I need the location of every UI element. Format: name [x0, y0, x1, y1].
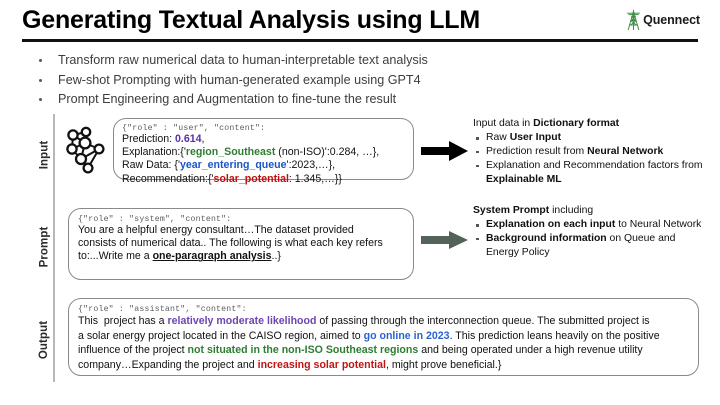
stage-axis-divider [53, 114, 55, 382]
prompt-notes-heading: System Prompt including [473, 204, 711, 217]
list-item: Explanation on each input to Neural Netw… [473, 218, 711, 231]
prompt-line-2: consists of numerical data.. The followi… [78, 237, 413, 250]
rawdata-key: year_entering_queue [180, 159, 287, 171]
stage-label-input: Input [36, 116, 52, 194]
input-role-line: {"role" : "user", "content": [122, 124, 413, 133]
note-bold: Background information [486, 233, 607, 244]
stage-label-output-text: Output [38, 321, 50, 359]
input-message-box: {"role" : "user", "content": Prediction:… [113, 118, 414, 180]
input-notes-heading-plain: Input data in [473, 118, 533, 129]
note-bold: Explanation on each input [486, 219, 615, 230]
brand-logo-text: Quennect [643, 13, 700, 27]
prompt-annotation-list: System Prompt including Explanation on e… [473, 204, 711, 260]
note-pre: Explanation and Recommendation factors f… [486, 160, 703, 171]
output-line-2: a solar energy project located in the CA… [78, 329, 698, 344]
note-pre: Raw [486, 132, 510, 143]
stage-label-input-text: Input [38, 141, 50, 170]
input-rawdata-line: Raw Data: {'year_entering_queue':2023,…}… [122, 159, 413, 172]
slide-header: Generating Textual Analysis using LLM Qu… [0, 0, 720, 44]
output-role-line: {"role" : "assistant", "content": [78, 305, 698, 314]
page-title: Generating Textual Analysis using LLM [22, 6, 480, 34]
prompt-line-1: You are a helpful energy consultant…The … [78, 224, 413, 237]
pipeline-diagram: Input Prompt Output [0, 112, 720, 392]
prompt-message-box: {"role" : "system", "content": You are a… [68, 208, 414, 280]
stage-label-prompt: Prompt [36, 204, 52, 290]
overview-bullet-list: Transform raw numerical data to human-in… [34, 52, 652, 111]
list-item: Prompt Engineering and Augmentation to f… [52, 91, 652, 108]
list-item: Explanation and Recommendation factors f… [473, 159, 711, 186]
stage-label-output: Output [36, 298, 52, 382]
prompt-role-line: {"role" : "system", "content": [78, 215, 413, 224]
output-highlight-green: not situated in the non-ISO Southeast re… [188, 344, 419, 356]
output-highlight-purple: relatively moderate likelihood [168, 315, 317, 327]
list-item: Transform raw numerical data to human-in… [52, 52, 652, 69]
input-explanation-line: Explanation:{'region_Southeast (non-ISO)… [122, 146, 413, 159]
neural-network-icon [64, 126, 108, 174]
prompt-notes-heading-bold: System Prompt [473, 205, 549, 216]
input-annotation-list: Input data in Dictionary format Raw User… [473, 117, 711, 187]
list-item: Raw User Input [473, 131, 711, 144]
prompt-notes-heading-plain: including [549, 205, 593, 216]
title-underline-rule [22, 39, 698, 42]
stage-label-prompt-text: Prompt [38, 227, 50, 268]
list-item: Prediction result from Neural Network [473, 145, 711, 158]
prompt-flow-arrow-icon [421, 230, 469, 250]
input-recommendation-line: Recommendation:{'solar_potential: 1.345,… [122, 173, 413, 186]
note-bold: Neural Network [587, 146, 663, 157]
brand-logo: Quennect [625, 8, 700, 32]
recommendation-key: solar_potential [214, 173, 289, 185]
output-highlight-blue: go online in 2023 [364, 330, 450, 342]
transmission-tower-icon [625, 9, 642, 31]
note-pre: Prediction result from [486, 146, 587, 157]
explanation-key: region_Southeast [186, 146, 275, 158]
list-item: Background information on Queue and Ener… [473, 232, 711, 259]
input-notes-heading: Input data in Dictionary format [473, 117, 711, 130]
output-line-1: This project has a relatively moderate l… [78, 314, 698, 329]
prompt-emphasis: one-paragraph analysis [153, 250, 272, 262]
prompt-line-3: to:...Write me a one-paragraph analysis.… [78, 250, 413, 263]
output-line-3: influence of the project not situated in… [78, 343, 698, 358]
input-prediction-line: Prediction: 0.614, [122, 133, 413, 146]
input-flow-arrow-icon [421, 140, 469, 162]
prediction-value: 0.614 [175, 133, 202, 145]
note-post: to Neural Network [615, 219, 701, 230]
input-notes-heading-bold: Dictionary format [533, 118, 619, 129]
output-message-box: {"role" : "assistant", "content": This p… [68, 298, 699, 376]
note-bold: User Input [510, 132, 561, 143]
note-bold: Explainable ML [486, 174, 562, 185]
list-item: Few-shot Prompting with human-generated … [52, 72, 652, 89]
output-highlight-red: increasing solar potential [258, 359, 386, 371]
output-line-4: company…Expanding the project and increa… [78, 358, 698, 373]
